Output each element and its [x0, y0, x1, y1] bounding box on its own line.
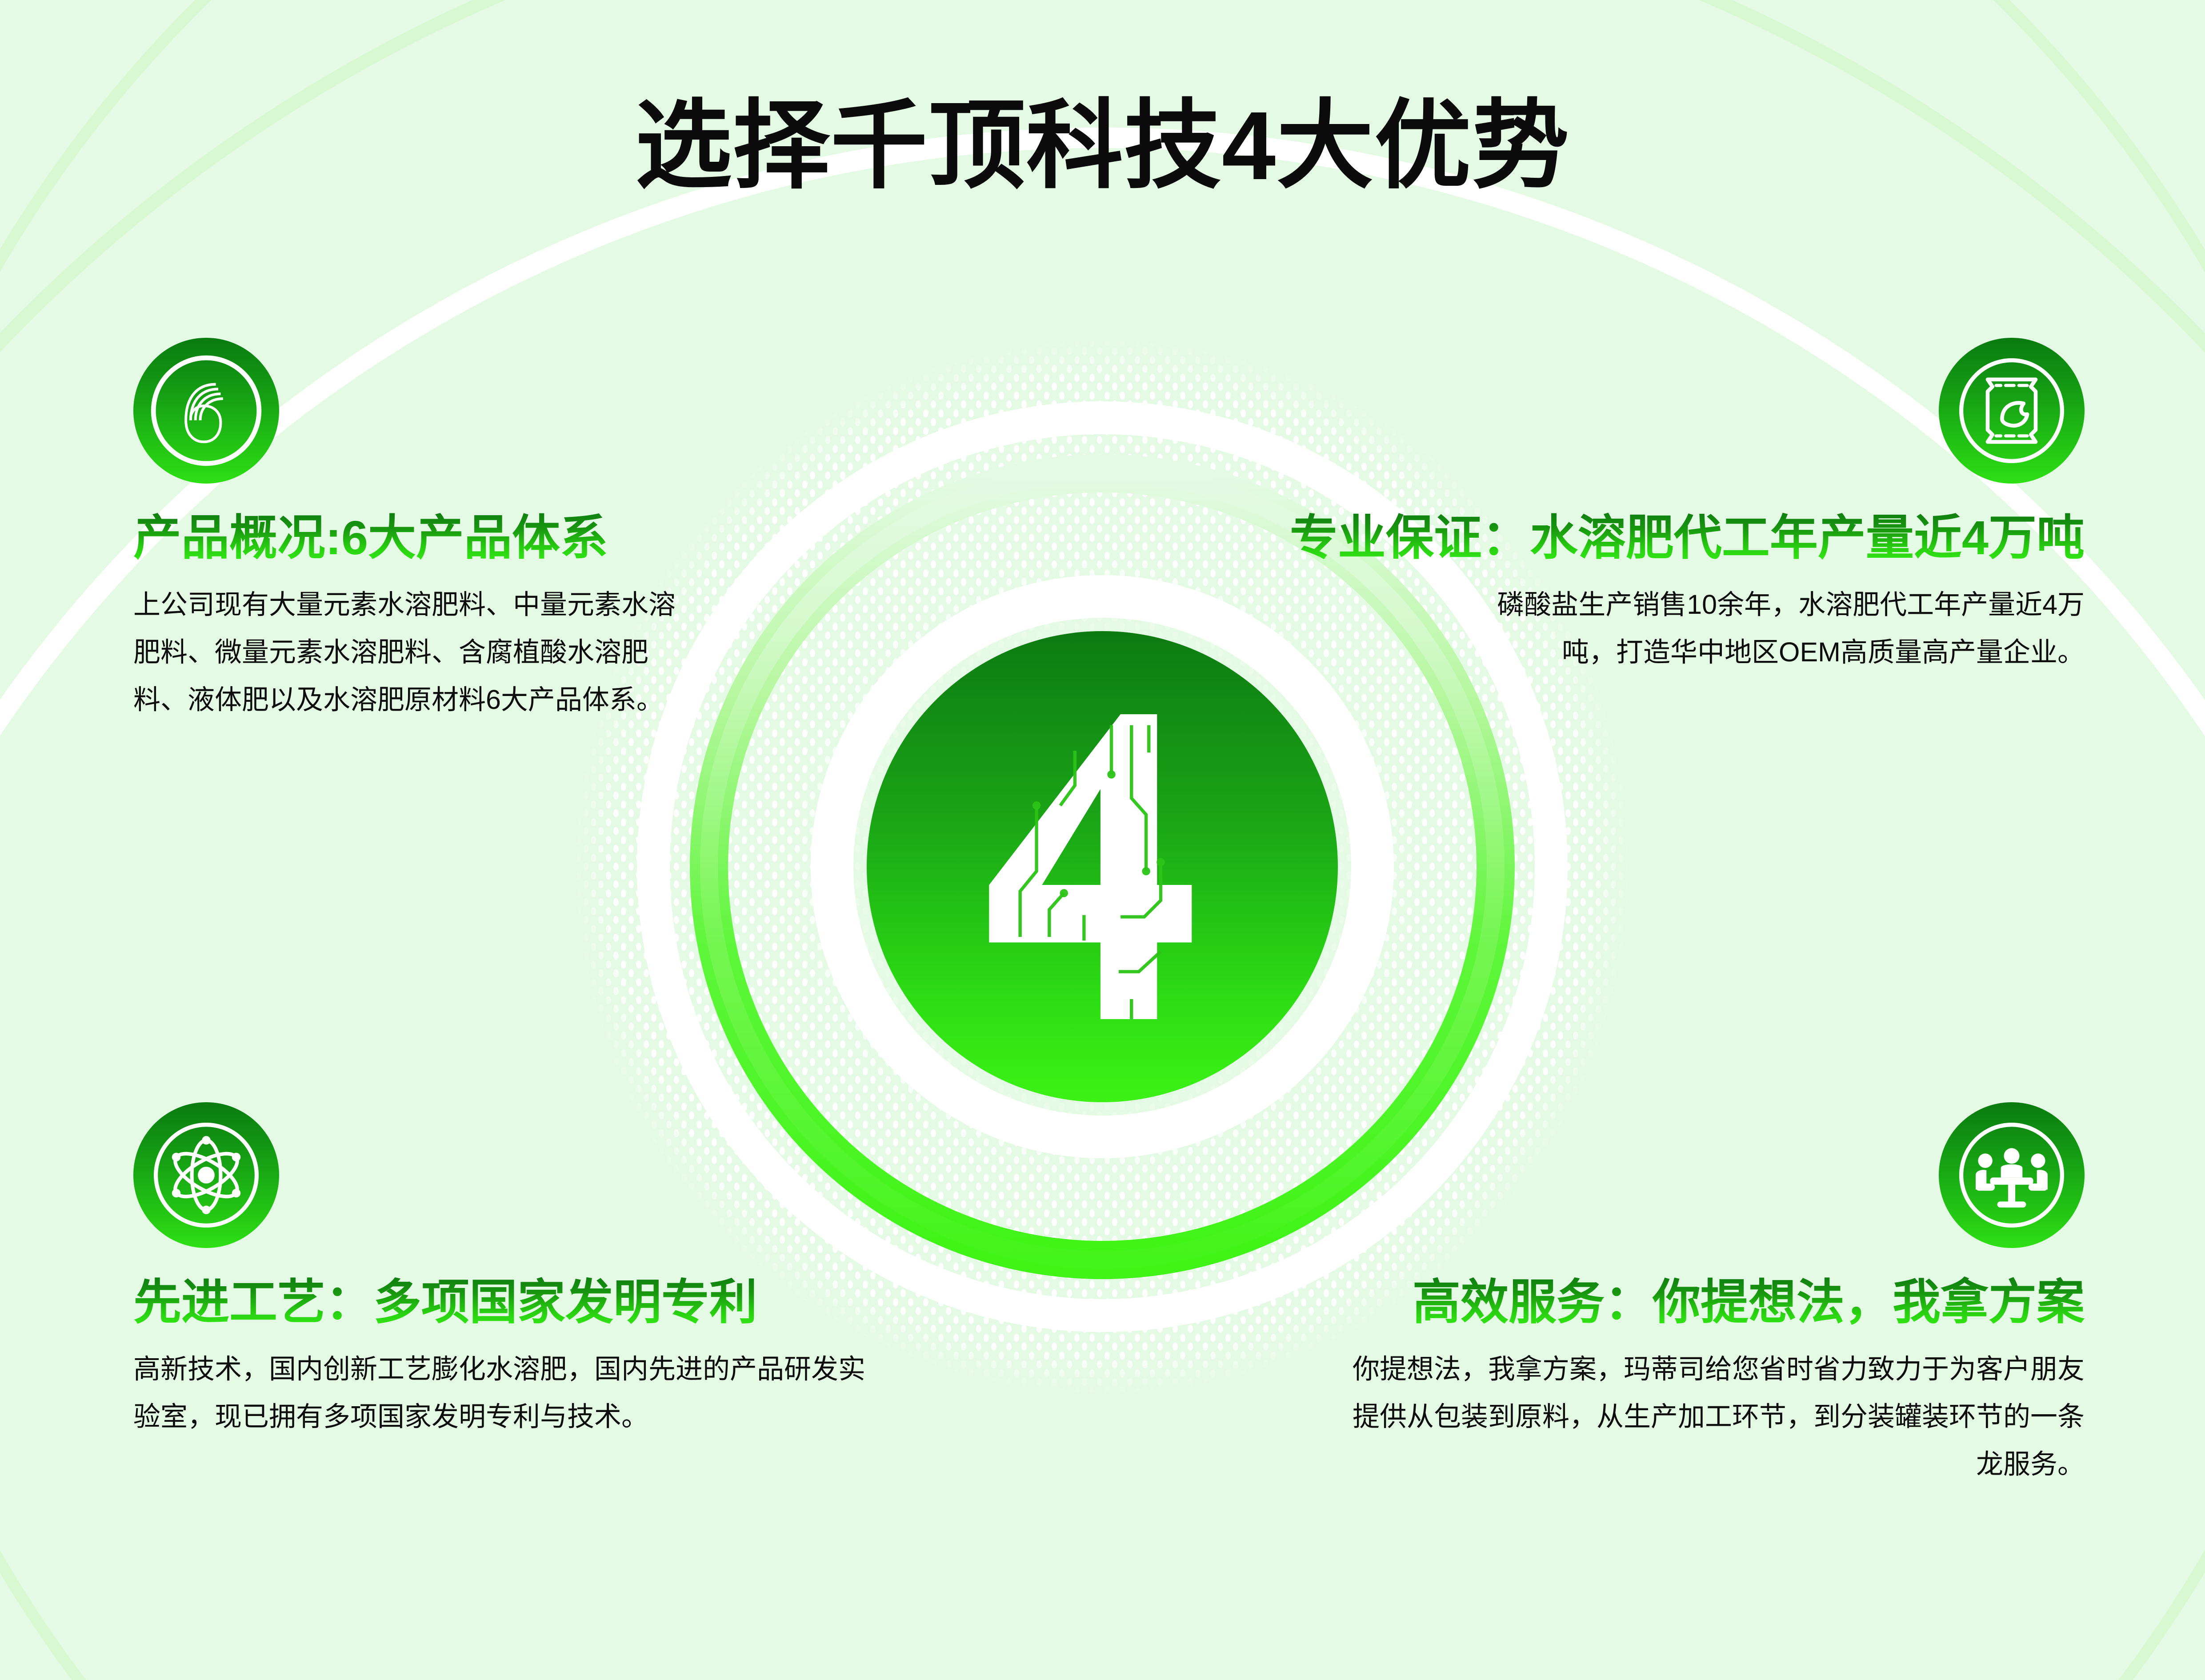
- center-number-circle: [867, 631, 1338, 1102]
- advantage-heading: 高效服务：你提想法，我拿方案: [1329, 1274, 2085, 1330]
- advantage-body: 上公司现有大量元素水溶肥料、中量元素水溶肥料、微量元素水溶肥料、含腐植酸水溶肥料…: [133, 581, 689, 723]
- advantage-heading: 产品概况:6大产品体系: [133, 509, 720, 566]
- advantage-body: 你提想法，我拿方案，玛蒂司给您省时省力致力于为客户朋友提供从包装到原料，从生产加…: [1333, 1345, 2085, 1488]
- advantage-heading: 先进工艺：多项国家发明专利: [133, 1274, 889, 1330]
- advantage-heading: 专业保证：水溶肥代工年产量近4万吨: [1191, 509, 2085, 566]
- advantage-block-bottom-right: 高效服务：你提想法，我拿方案 你提想法，我拿方案，玛蒂司给您省时省力致力于为客户…: [1329, 1102, 2085, 1488]
- infographic-canvas: 选择千顶科技4大优势: [0, 0, 2205, 1680]
- advantage-body: 高新技术，国内创新工艺膨化水溶肥，国内先进的产品研发实验室，现已拥有多项国家发明…: [133, 1345, 884, 1440]
- advantage-block-bottom-left: 先进工艺：多项国家发明专利 高新技术，国内创新工艺膨化水溶肥，国内先进的产品研发…: [133, 1102, 889, 1440]
- fertilizer-bag-icon: [1939, 338, 2085, 484]
- six-spiral-icon: [133, 338, 279, 484]
- advantage-block-top-right: 专业保证：水溶肥代工年产量近4万吨 磷酸盐生产销售10余年，水溶肥代工年产量近4…: [1191, 338, 2085, 676]
- meeting-team-icon: [1939, 1102, 2085, 1248]
- page-title: 选择千顶科技4大优势: [0, 96, 2205, 197]
- advantage-body: 磷酸盐生产销售10余年，水溶肥代工年产量近4万吨，打造华中地区OEM高质量高产量…: [1489, 581, 2085, 676]
- atom-icon: [133, 1102, 279, 1248]
- advantage-block-top-left: 产品概况:6大产品体系 上公司现有大量元素水溶肥料、中量元素水溶肥料、微量元素水…: [133, 338, 720, 724]
- center-number-four-glyph: [964, 698, 1240, 1036]
